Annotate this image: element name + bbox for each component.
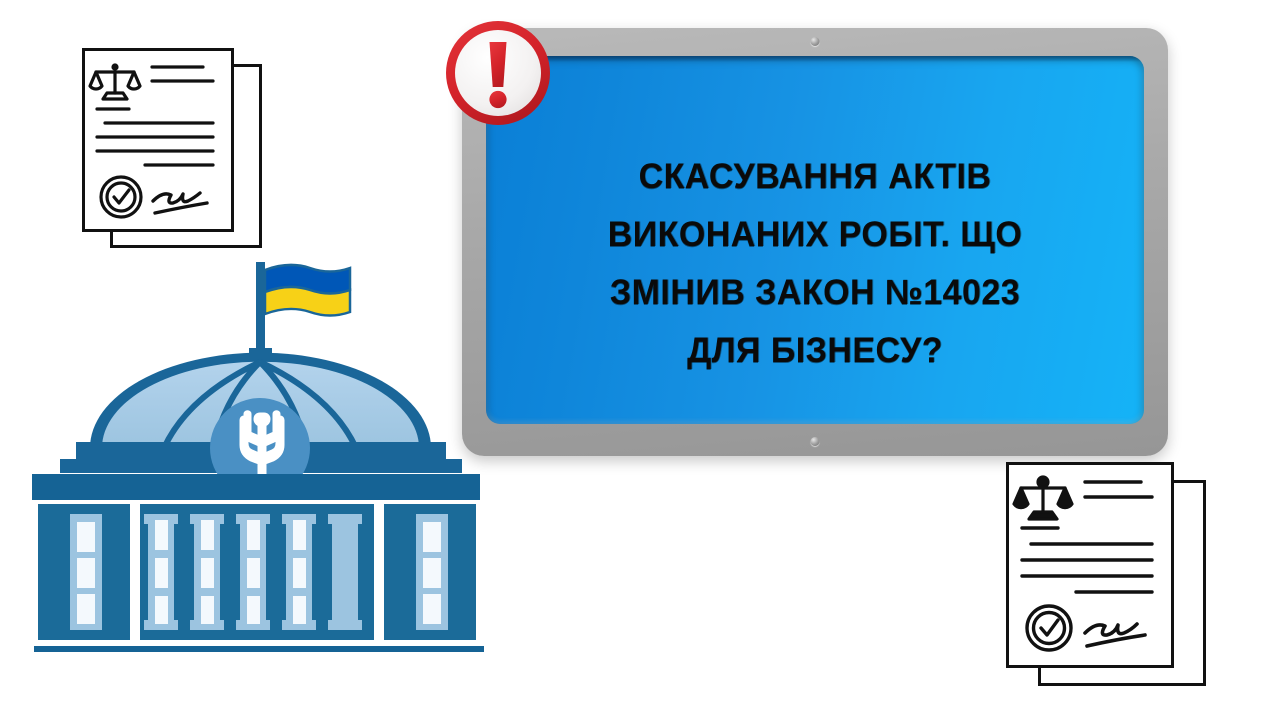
column bbox=[282, 514, 316, 630]
scales-of-justice-icon bbox=[1014, 477, 1072, 519]
title-line-1: СКАСУВАННЯ АКТІВ bbox=[521, 148, 1109, 206]
board-screw-top bbox=[811, 37, 820, 46]
signature-icon bbox=[1085, 624, 1145, 646]
parliament-facade bbox=[32, 474, 484, 652]
title-line-2: ВИКОНАНИХ РОБІТ. ЩО bbox=[521, 206, 1109, 264]
poster-canvas: СКАСУВАННЯ АКТІВ ВИКОНАНИХ РОБІТ. ЩО ЗМІ… bbox=[0, 0, 1280, 720]
facade-right-wing bbox=[384, 504, 476, 640]
ukraine-parliament-building-icon bbox=[24, 252, 494, 652]
notice-board: СКАСУВАННЯ АКТІВ ВИКОНАНИХ РОБІТ. ЩО ЗМІ… bbox=[462, 28, 1168, 456]
facade-left-wing bbox=[38, 504, 130, 640]
title-line-3: ЗМІНИВ ЗАКОН №14023 bbox=[521, 264, 1109, 322]
document-front-page bbox=[1006, 462, 1174, 668]
scales-of-justice-icon bbox=[90, 63, 140, 99]
legal-document-icon-bottom-right bbox=[1006, 462, 1206, 690]
title-line-4: ДЛЯ БІЗНЕСУ? bbox=[521, 322, 1109, 380]
seal-check-icon bbox=[1027, 606, 1071, 650]
facade-colonnade bbox=[140, 504, 374, 640]
document-contents bbox=[1009, 465, 1171, 665]
parliament-illustration bbox=[24, 252, 494, 652]
board-screw-bottom bbox=[811, 437, 820, 446]
column bbox=[144, 514, 178, 630]
seal-check-icon bbox=[101, 177, 141, 217]
warning-badge bbox=[443, 18, 553, 128]
exclamation-mark-icon bbox=[443, 18, 553, 128]
ukraine-flag-icon bbox=[256, 262, 350, 354]
document-contents bbox=[85, 51, 231, 229]
board-title-text: СКАСУВАННЯ АКТІВ ВИКОНАНИХ РОБІТ. ЩО ЗМІ… bbox=[486, 148, 1144, 380]
column bbox=[328, 514, 362, 630]
legal-document-icon-top-left bbox=[82, 48, 262, 248]
document-front-page bbox=[82, 48, 234, 232]
column bbox=[236, 514, 270, 630]
board-face: СКАСУВАННЯ АКТІВ ВИКОНАНИХ РОБІТ. ЩО ЗМІ… bbox=[486, 56, 1144, 424]
signature-icon bbox=[153, 193, 207, 213]
column bbox=[190, 514, 224, 630]
